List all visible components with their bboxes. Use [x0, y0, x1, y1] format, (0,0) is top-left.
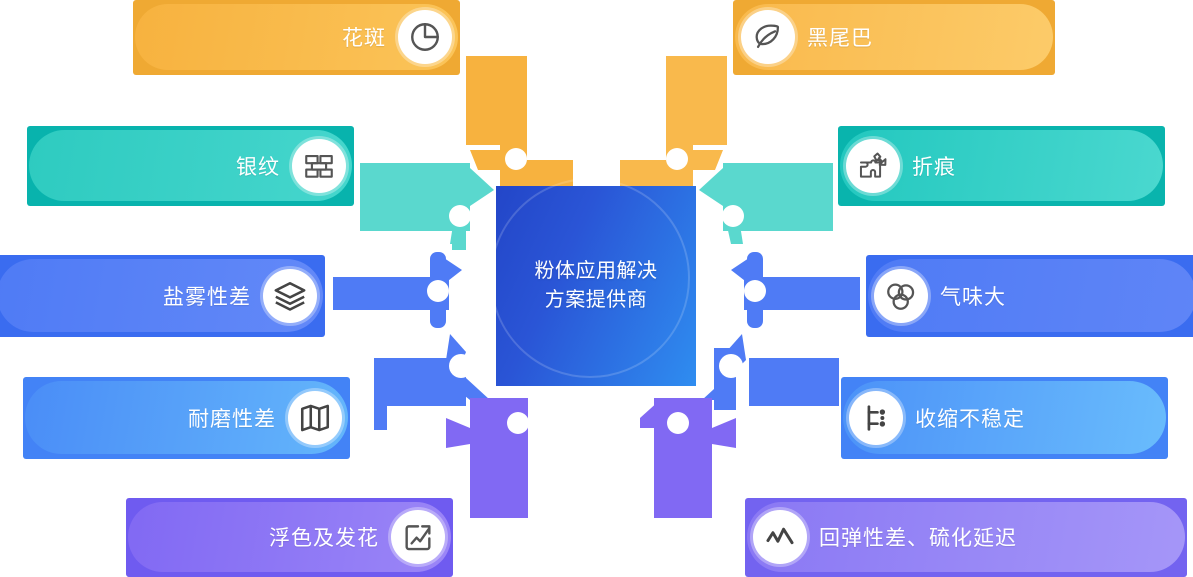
node-label: 气味大 [940, 281, 1006, 311]
node-zhe-hen[interactable]: 折痕 [838, 126, 1165, 206]
node-body: 花斑 [135, 4, 458, 70]
node-hua-ban[interactable]: 花斑 [133, 0, 460, 75]
node-fu-se-ji-fa-hua[interactable]: 浮色及发花 [126, 498, 453, 577]
node-label: 浮色及发花 [269, 522, 379, 552]
node-body: 银纹 [29, 130, 352, 201]
node-body: 黑尾巴 [735, 4, 1053, 70]
node-body: 收缩不稳定 [843, 381, 1166, 454]
diagram-canvas: 粉体应用解决 方案提供商 花斑 黑尾巴 [0, 0, 1193, 577]
node-label: 回弹性差、硫化延迟 [819, 522, 1017, 552]
node-hui-tan-xing-cha[interactable]: 回弹性差、硫化延迟 [745, 498, 1187, 577]
map-icon [288, 391, 342, 445]
node-label: 盐雾性差 [163, 281, 251, 311]
connector-fu-se [446, 398, 529, 518]
node-label: 折痕 [912, 151, 956, 181]
connector-shou-suo [702, 334, 839, 410]
connector-zhe-hen [699, 163, 833, 244]
center-node-label: 粉体应用解决 方案提供商 [535, 257, 658, 315]
node-shou-suo-bu-wen-ding[interactable]: 收缩不稳定 [841, 377, 1168, 459]
node-body: 耐磨性差 [25, 381, 348, 454]
pie-chart-icon [398, 10, 452, 64]
node-label: 收缩不稳定 [915, 403, 1025, 433]
connector-yan-wu [333, 252, 462, 328]
connector-hui-tan [640, 398, 736, 518]
brick-wall-icon [292, 139, 346, 193]
node-qi-wei-da[interactable]: 气味大 [866, 255, 1193, 337]
puzzle-piece-icon [846, 139, 900, 193]
node-yan-wu-xing-cha[interactable]: 盐雾性差 [0, 255, 325, 337]
node-body: 盐雾性差 [0, 259, 323, 332]
node-body: 浮色及发花 [128, 502, 451, 572]
node-label: 银纹 [236, 151, 280, 181]
node-yin-wen[interactable]: 银纹 [27, 126, 354, 206]
connector-qi-wei [731, 252, 860, 328]
connector-hei-wei-ba [620, 56, 727, 198]
trend-chart-icon [391, 510, 445, 564]
node-label: 花斑 [342, 22, 386, 52]
node-nai-mo-xing-cha[interactable]: 耐磨性差 [23, 377, 350, 459]
node-body: 回弹性差、硫化延迟 [747, 502, 1185, 572]
node-body: 折痕 [840, 130, 1163, 201]
line-chart-icon [753, 510, 807, 564]
node-label: 黑尾巴 [807, 22, 873, 52]
center-node: 粉体应用解决 方案提供商 [496, 186, 696, 386]
sitemap-icon [849, 391, 903, 445]
connector-nai-mo [374, 334, 490, 430]
leaf-icon [741, 10, 795, 64]
node-hei-wei-ba[interactable]: 黑尾巴 [733, 0, 1055, 75]
recycle-icon [874, 269, 928, 323]
connector-yin-wen [360, 163, 494, 250]
layers-icon [263, 269, 317, 323]
node-label: 耐磨性差 [188, 403, 276, 433]
connector-hua-ban [466, 56, 573, 198]
node-body: 气味大 [868, 259, 1193, 332]
